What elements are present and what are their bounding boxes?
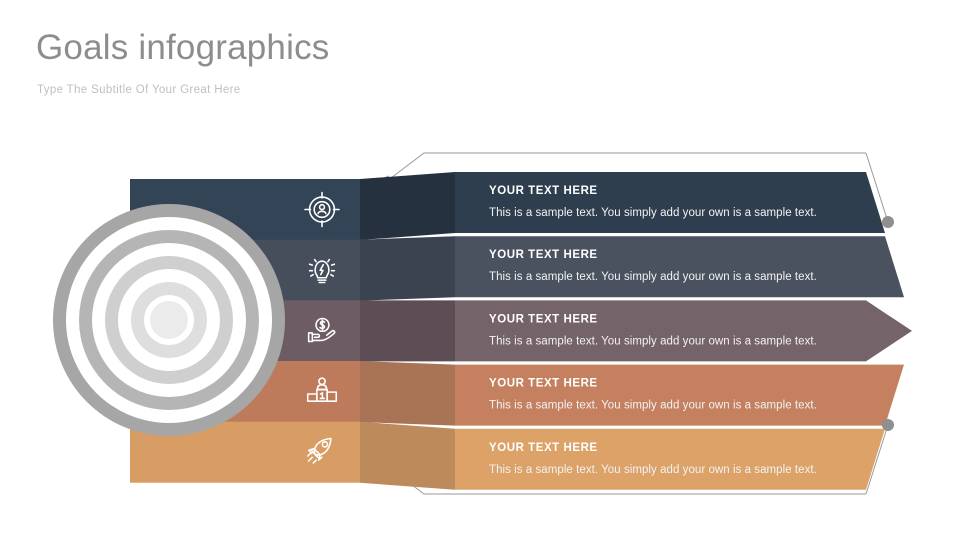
row-description-4: This is a sample text. You simply add yo…: [489, 464, 817, 476]
row-title-1: YOUR TEXT HERE: [489, 249, 598, 261]
connector-dot-0[interactable]: [882, 216, 894, 228]
band-fold-3: [360, 361, 455, 426]
row-description-2: This is a sample text. You simply add yo…: [489, 335, 817, 347]
row-description-3: This is a sample text. You simply add yo…: [489, 400, 817, 412]
goals-infographic: YOUR TEXT HEREThis is a sample text. You…: [0, 0, 960, 540]
row-description-0: This is a sample text. You simply add yo…: [489, 207, 817, 219]
row-title-3: YOUR TEXT HERE: [489, 378, 598, 390]
row-title-4: YOUR TEXT HERE: [489, 442, 598, 454]
row-title-2: YOUR TEXT HERE: [489, 313, 598, 325]
slide-canvas: Goals infographics Type The Subtitle Of …: [0, 0, 960, 540]
row-title-0: YOUR TEXT HERE: [489, 185, 598, 197]
band-panel-4[interactable]: [455, 429, 885, 490]
target-ring-8: [150, 301, 188, 339]
band-panel-2[interactable]: [455, 300, 912, 361]
band-panel-1[interactable]: [455, 236, 904, 297]
band-fold-2: [360, 300, 455, 361]
band-panel-0[interactable]: [455, 172, 885, 233]
band-fold-0: [360, 172, 455, 240]
connector-dot-1[interactable]: [882, 419, 894, 431]
band-fold-1: [360, 236, 455, 301]
band-fold-4: [360, 422, 455, 490]
concentric-target: [53, 204, 285, 436]
band-panel-3[interactable]: [455, 365, 904, 426]
row-description-1: This is a sample text. You simply add yo…: [489, 271, 817, 283]
